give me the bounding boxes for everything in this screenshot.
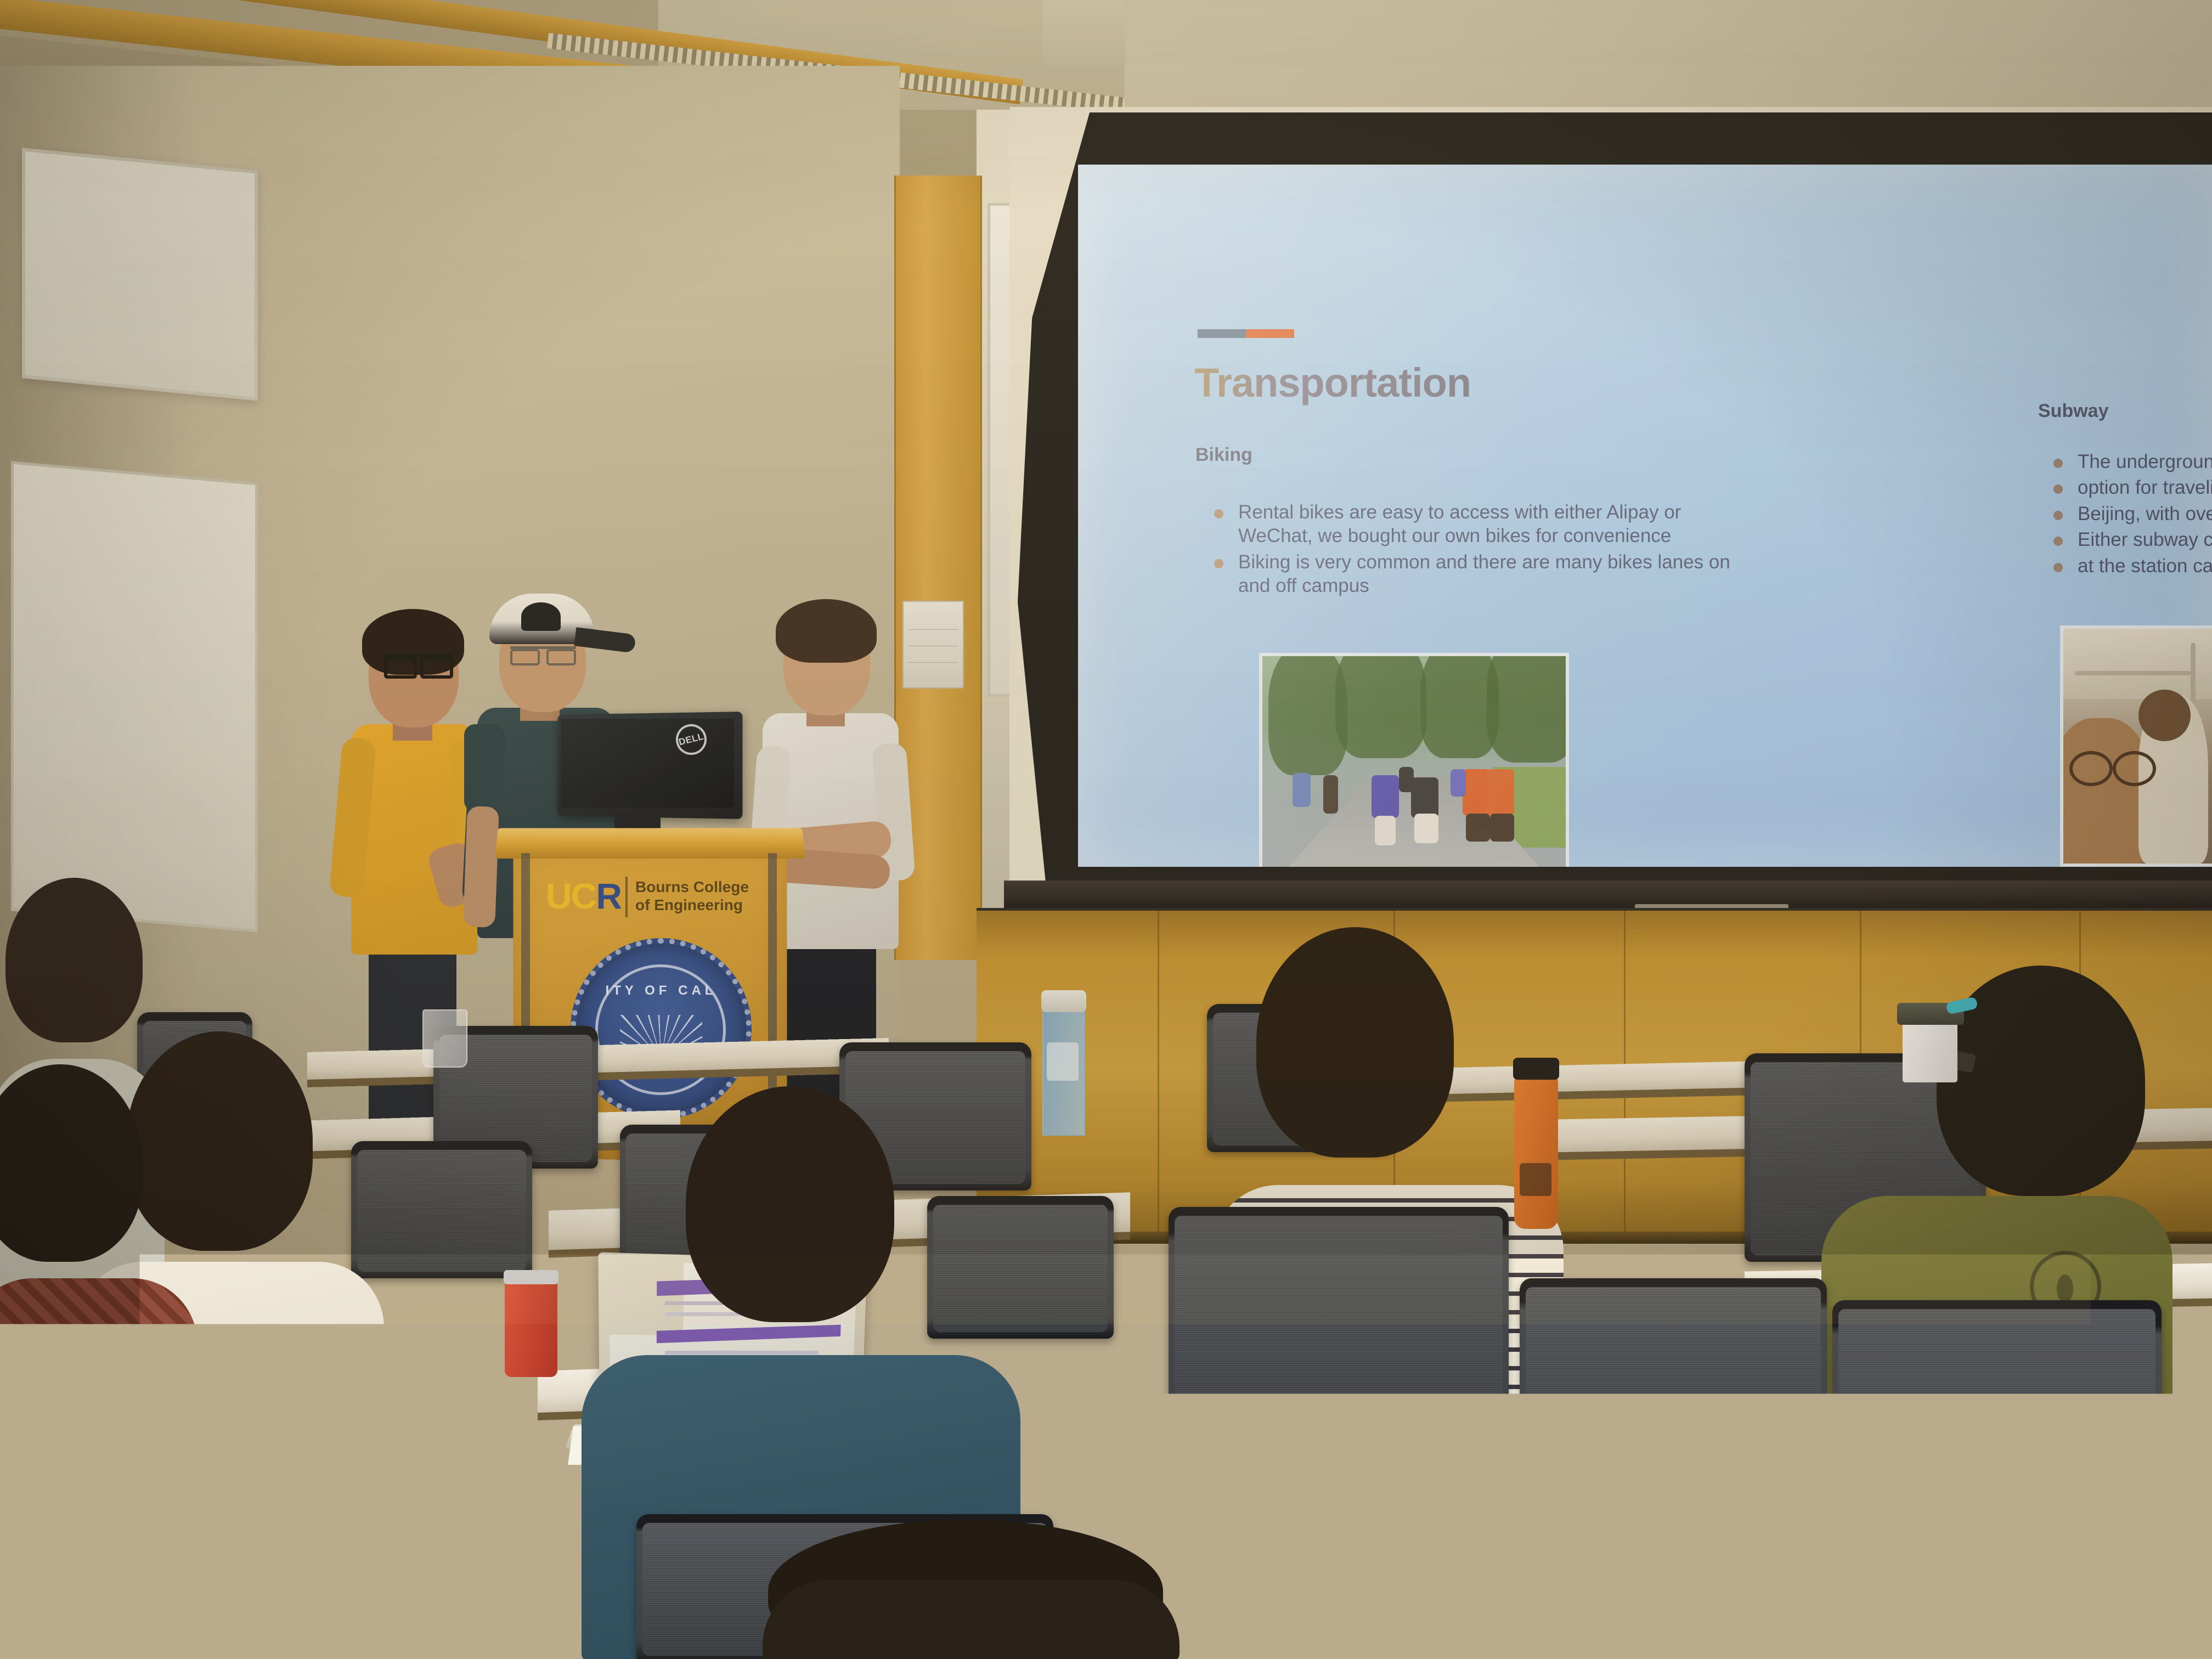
- bullet-continuation: Beijing, with over 20 lines: [2044, 502, 2212, 526]
- audience-member-foreground: [763, 1580, 1180, 1659]
- accent-bar-right: [1246, 329, 1294, 338]
- posted-notice: [902, 601, 964, 689]
- projection-screen-surface: Transportation Biking Subway Rental bike…: [1078, 165, 2212, 867]
- monitor-screen: [561, 719, 734, 808]
- chair: [1520, 1278, 1827, 1542]
- presenter-3-hair: [776, 599, 877, 663]
- slide-bullets-subway: The underground subway is the be option …: [2044, 450, 2212, 580]
- accent-bar-left: [1198, 329, 1246, 338]
- slide-title: Transportation: [1194, 359, 1471, 406]
- bottle-label: [1047, 1042, 1079, 1081]
- college-name: Bourns College of Engineering: [635, 878, 749, 914]
- slide-accent-bar: [1198, 329, 1294, 338]
- chair: [1169, 1207, 1509, 1492]
- audience-member-head: [686, 1086, 894, 1322]
- chair: [351, 1141, 532, 1278]
- presenter-1-glasses: [384, 654, 453, 669]
- soda-can: [505, 1278, 557, 1377]
- logo-divider: [625, 877, 628, 917]
- college-line-2: of Engineering: [635, 896, 749, 914]
- ucr-r-letter: R: [596, 876, 621, 916]
- podium-top-surface: [495, 828, 805, 859]
- whiteboard-upper: [22, 148, 258, 400]
- audience-member-head: [1256, 927, 1454, 1158]
- soda-can-top: [504, 1270, 558, 1284]
- white-tumbler: [1903, 1019, 1957, 1082]
- laptop-doc-text-line: [665, 1351, 819, 1355]
- bottle-cap: [1041, 990, 1086, 1012]
- cap-logo: [521, 602, 561, 631]
- slide-subheading-subway: Subway: [2038, 400, 2108, 422]
- food-item: [1219, 1453, 1285, 1502]
- bottle-cap: [1513, 1058, 1559, 1080]
- bullet-continuation: option for traveling long distances: [2044, 476, 2212, 499]
- clear-plastic-cup: [2024, 1514, 2095, 1602]
- orange-water-bottle: [1514, 1075, 1558, 1229]
- audience-member-foreground-right: [1229, 1558, 1624, 1659]
- slide-photo-biking: [1259, 653, 1569, 867]
- bullet-item: Rental bikes are easy to access with eit…: [1204, 500, 1753, 548]
- presenter-2-sleeve: [464, 724, 503, 812]
- clear-plastic-cup: [422, 1009, 467, 1068]
- lecture-hall-photo: Transportation Biking Subway Rental bike…: [0, 0, 2212, 1659]
- presenter-2-forearm: [463, 806, 499, 928]
- slide-photo-subway: [2060, 625, 2212, 867]
- whiteboard-lower: [11, 461, 258, 932]
- chair: [22, 1437, 450, 1659]
- bullet-item: Biking is very common and there are many…: [1204, 550, 1753, 598]
- audience-member-head: [126, 1031, 313, 1251]
- bullet-continuation: at the station can be used: [2044, 554, 2212, 578]
- uc-seal-text: ITY OF CAL: [587, 983, 735, 998]
- bullet-item: The underground subway is the be: [2044, 450, 2212, 473]
- ucr-uc-letters: UC: [546, 876, 596, 916]
- screen-bottom-bar: [1004, 881, 2212, 911]
- chair: [927, 1196, 1114, 1339]
- slide-bullets-biking: Rental bikes are easy to access with eit…: [1204, 500, 1753, 600]
- bullet-item: Either subway cards or tickets pur: [2044, 528, 2212, 551]
- presenter-2-glasses: [510, 646, 576, 658]
- college-line-1: Bourns College: [635, 878, 749, 896]
- audience-member-head: [5, 878, 143, 1042]
- bottle-clip: [1520, 1163, 1551, 1196]
- slide-subheading-biking: Biking: [1195, 444, 1252, 466]
